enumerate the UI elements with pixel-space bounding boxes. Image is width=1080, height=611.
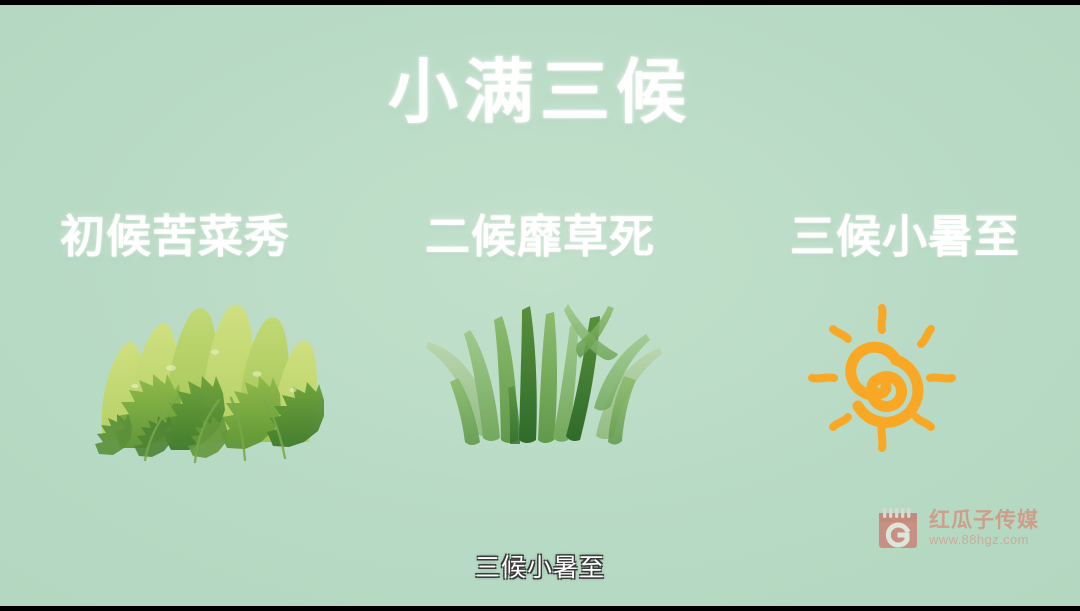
bitter-greens-illustration [75, 290, 340, 470]
letterbox-bar-bottom [0, 606, 1080, 611]
watermark-url: www.88hgz.com [929, 532, 1039, 548]
screenshot-canvas: 小满三候 初候苦菜秀 二候靡草死 三候小暑至 [0, 0, 1080, 611]
brand-logo-icon [876, 505, 920, 551]
phase-phrase-3: 三候小暑至 [790, 210, 1020, 264]
video-caption: 三候小暑至 [0, 553, 1080, 583]
phase-phrase-row: 初候苦菜秀 二候靡草死 三候小暑至 [60, 210, 1020, 264]
illustration-row [0, 290, 1080, 470]
watermark: 红瓜子传媒 www.88hgz.com [876, 500, 1066, 556]
page-title: 小满三候 [0, 52, 1080, 132]
letterbox-bar-top [0, 0, 1080, 5]
phase-phrase-2: 二候靡草死 [425, 210, 655, 264]
phase-phrase-1: 初候苦菜秀 [60, 210, 290, 264]
watermark-text: 红瓜子传媒 www.88hgz.com [929, 508, 1039, 548]
spiral-sun-illustration [795, 290, 970, 470]
grass-blades-illustration [418, 290, 668, 470]
watermark-brand-name: 红瓜子传媒 [929, 508, 1039, 532]
